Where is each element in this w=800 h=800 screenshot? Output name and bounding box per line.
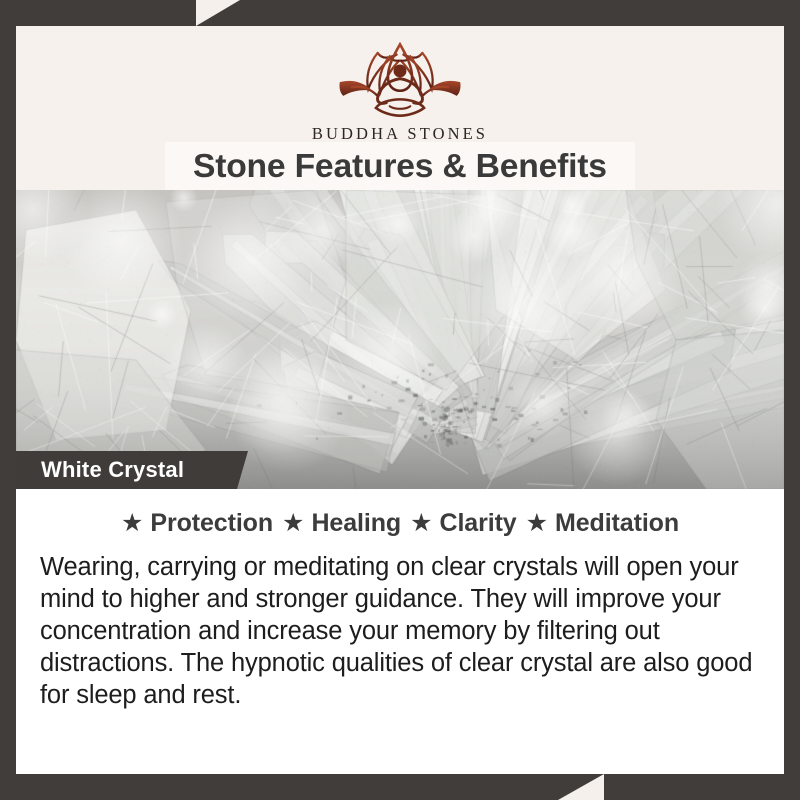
- benefit-item: ★ Protection: [121, 509, 273, 538]
- brand-logo: BUDDHA STONES: [16, 34, 784, 144]
- benefit-item: ★ Healing: [273, 509, 401, 538]
- infographic-card: BUDDHA STONES Stone Features & Benefits …: [16, 26, 784, 774]
- benefit-item: ★ Meditation: [517, 509, 679, 538]
- lotus-meditation-figure-icon: [314, 34, 486, 120]
- brand-name: BUDDHA STONES: [312, 124, 488, 144]
- title-banner: Stone Features & Benefits: [165, 142, 635, 190]
- benefits-row: ★ Protection ★ Healing ★ Clarity ★ Medit…: [28, 489, 772, 538]
- frame-notch-bottom-right: [558, 774, 604, 800]
- benefit-label: Protection: [150, 509, 273, 538]
- crystal-cluster-image: [16, 190, 784, 489]
- star-icon: ★: [410, 511, 432, 536]
- stone-photo: White Crystal: [16, 190, 784, 489]
- star-icon: ★: [526, 511, 548, 536]
- card-content: ★ Protection ★ Healing ★ Clarity ★ Medit…: [16, 489, 784, 774]
- benefit-label: Clarity: [439, 509, 516, 538]
- page-title: Stone Features & Benefits: [193, 147, 607, 185]
- card-header: BUDDHA STONES Stone Features & Benefits: [16, 26, 784, 190]
- stone-name-bar: White Crystal: [16, 451, 248, 489]
- star-icon: ★: [121, 511, 143, 536]
- benefit-item: ★ Clarity: [401, 509, 517, 538]
- benefit-label: Meditation: [555, 509, 679, 538]
- benefit-label: Healing: [311, 509, 401, 538]
- stone-name-label: White Crystal: [41, 457, 184, 483]
- star-icon: ★: [282, 511, 304, 536]
- frame-notch-top-left: [196, 0, 240, 26]
- stone-description: Wearing, carrying or meditating on clear…: [40, 551, 762, 711]
